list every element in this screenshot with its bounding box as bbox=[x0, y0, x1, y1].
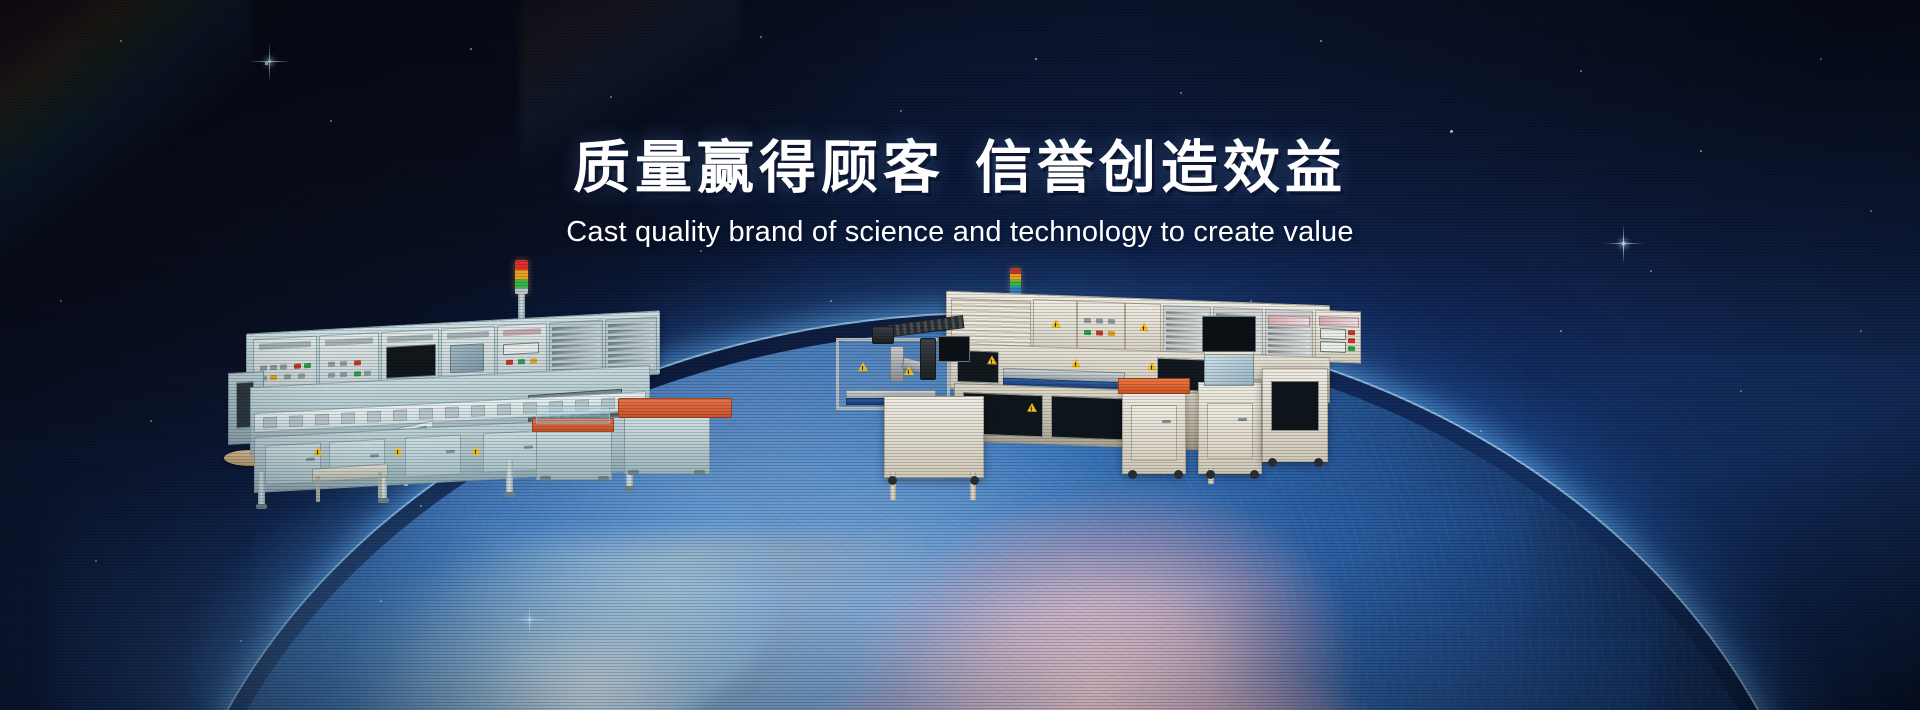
production-line-left bbox=[228, 276, 748, 506]
warning-triangle-icon bbox=[1139, 322, 1149, 331]
module-rack-5 bbox=[1265, 309, 1313, 361]
warning-triangle-icon bbox=[313, 446, 323, 456]
page-subtitle: Cast quality brand of science and techno… bbox=[0, 216, 1920, 249]
caster-wheel bbox=[1314, 458, 1323, 467]
stack-light-lamp-left bbox=[515, 260, 528, 294]
console-door[interactable] bbox=[1207, 403, 1253, 459]
hmi-touchscreen[interactable] bbox=[450, 343, 484, 373]
cart-caster bbox=[694, 470, 705, 475]
leveling-foot bbox=[624, 486, 635, 491]
warning-triangle-icon bbox=[1071, 358, 1081, 367]
leveling-foot bbox=[378, 498, 389, 503]
panel-label-3 bbox=[387, 334, 433, 343]
front-cabinet-1 bbox=[884, 396, 984, 478]
access-door-3[interactable] bbox=[405, 434, 461, 477]
warning-triangle-icon bbox=[987, 355, 997, 364]
side-cabinet-2 bbox=[1077, 301, 1125, 355]
warning-triangle-icon bbox=[1051, 319, 1061, 328]
panel-label-5 bbox=[503, 328, 541, 336]
banner-copy: 质量赢得顾客信誉创造效益 Cast quality brand of scien… bbox=[0, 138, 1920, 249]
operator-console bbox=[1198, 382, 1262, 474]
display-screen-1 bbox=[386, 344, 436, 379]
robot-arm-base bbox=[872, 326, 894, 344]
warning-triangle-icon bbox=[471, 445, 481, 455]
cart-caster bbox=[540, 476, 551, 481]
page-title: 质量赢得顾客信誉创造效益 bbox=[0, 138, 1920, 200]
end-cabinet-right bbox=[1262, 368, 1328, 462]
stack-light-lamp-right bbox=[1010, 268, 1021, 294]
cabinet-door[interactable] bbox=[1131, 405, 1177, 461]
caster-wheel bbox=[1174, 470, 1183, 479]
leveling-foot bbox=[504, 492, 515, 497]
output-cart-2-tray bbox=[618, 398, 732, 418]
console-touchscreen[interactable] bbox=[1204, 354, 1254, 386]
support-leg bbox=[506, 460, 513, 494]
monitor-display-2[interactable] bbox=[1202, 316, 1256, 352]
warning-triangle-icon bbox=[1027, 403, 1037, 412]
caster-wheel bbox=[1128, 470, 1137, 479]
instrument-readout-2 bbox=[1320, 341, 1346, 353]
instrument-readout-1 bbox=[1320, 328, 1346, 340]
warning-triangle-icon bbox=[1147, 361, 1157, 370]
caster-wheel bbox=[970, 476, 979, 485]
lens-flare-star bbox=[268, 60, 271, 63]
instrument-cabinet bbox=[1315, 310, 1361, 364]
caster-wheel bbox=[1250, 470, 1259, 479]
output-cart-1 bbox=[536, 426, 612, 480]
robot-arm-vertical bbox=[920, 338, 936, 380]
caster-wheel bbox=[1268, 458, 1277, 467]
bench-leg bbox=[316, 476, 320, 502]
warning-triangle-icon bbox=[904, 366, 914, 375]
monitor-display-1[interactable] bbox=[938, 336, 970, 362]
readout-display bbox=[503, 342, 539, 355]
panel-label-2 bbox=[325, 337, 373, 346]
caster-wheel bbox=[888, 476, 897, 485]
output-cart-1-guard bbox=[536, 406, 610, 424]
headline-part-1: 质量赢得顾客 bbox=[573, 135, 945, 201]
caster-wheel bbox=[1206, 470, 1215, 479]
rack-label bbox=[1268, 315, 1310, 327]
front-cabinet-2-tray bbox=[1118, 378, 1190, 394]
warning-triangle-icon bbox=[858, 362, 868, 371]
cart-caster bbox=[598, 476, 609, 481]
hero-banner: 质量赢得顾客信誉创造效益 Cast quality brand of scien… bbox=[0, 0, 1920, 710]
bench-leg bbox=[378, 472, 382, 498]
front-cabinet-2 bbox=[1122, 390, 1186, 474]
leveling-foot bbox=[256, 504, 267, 509]
panel-label-4 bbox=[447, 331, 489, 339]
end-cabinet-window bbox=[1271, 381, 1319, 431]
side-cabinet-3 bbox=[1125, 303, 1161, 356]
production-line-right bbox=[836, 276, 1336, 486]
support-leg bbox=[258, 472, 265, 506]
output-cart-2 bbox=[624, 416, 710, 474]
lens-flare-star-bottom bbox=[528, 618, 531, 621]
warning-triangle-icon bbox=[393, 446, 403, 456]
cart-caster bbox=[628, 470, 639, 475]
panel-label-1 bbox=[259, 341, 311, 350]
instrument-label bbox=[1319, 316, 1359, 328]
side-cabinet-1 bbox=[1033, 299, 1077, 353]
headline-part-2: 信誉创造效益 bbox=[975, 135, 1347, 201]
